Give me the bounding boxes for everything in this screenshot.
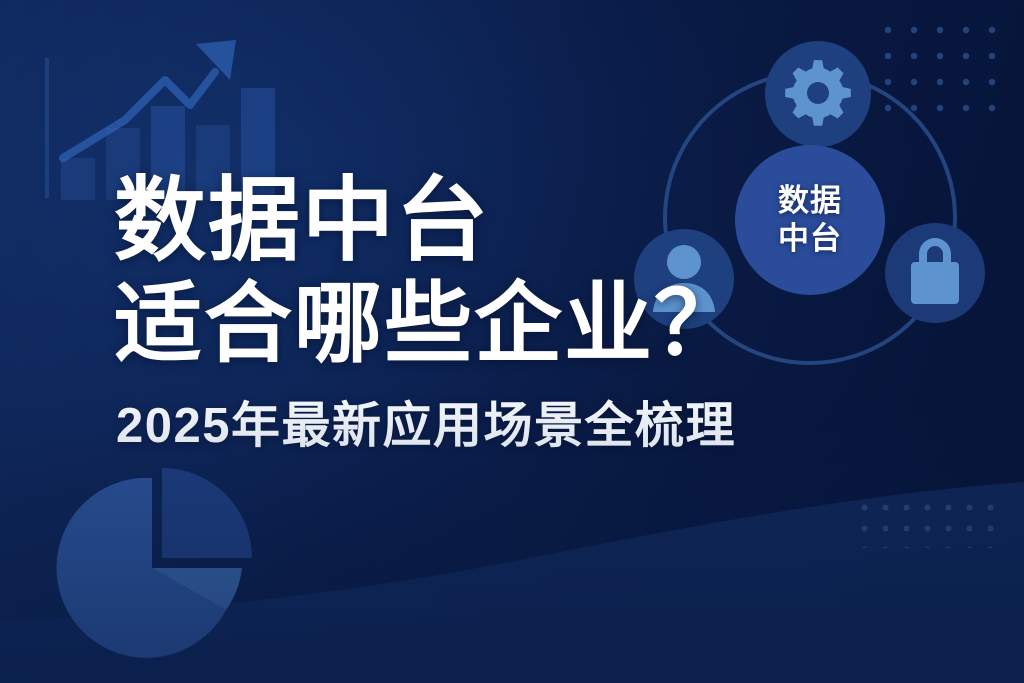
poster-canvas: 数据 中台 数据中台 适合哪些企业？ 2025年最新应用场景全梳理: [0, 0, 1024, 683]
cluster-node-lock[interactable]: [885, 223, 985, 323]
hub-circle: [735, 145, 885, 295]
subtitle: 2025年最新应用场景全梳理: [116, 398, 736, 454]
title-line-2: 适合哪些企业？: [114, 274, 744, 374]
title-line-1: 数据中台: [114, 168, 744, 274]
cluster-node-gear[interactable]: [765, 41, 871, 147]
headline-block: 数据中台 适合哪些企业？: [114, 168, 744, 374]
